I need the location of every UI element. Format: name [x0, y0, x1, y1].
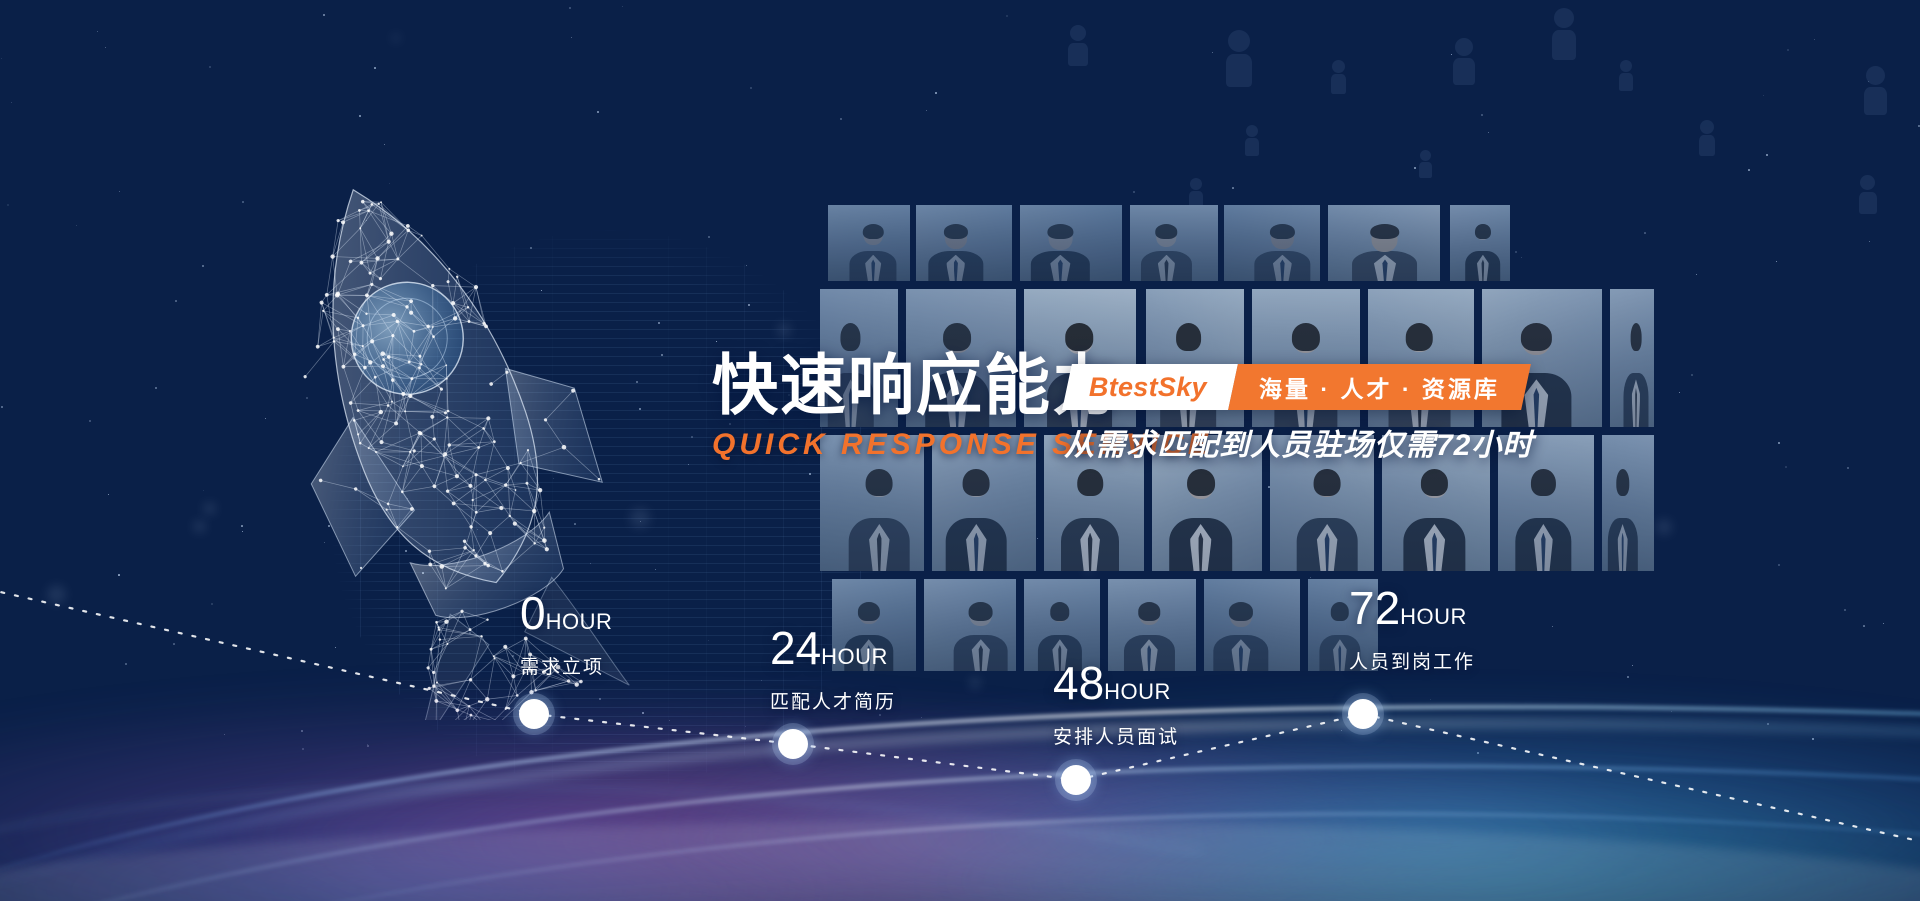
talent-photo-tile — [828, 205, 910, 281]
person-pictogram-icon — [1420, 150, 1431, 176]
person-pictogram-icon — [1866, 66, 1885, 112]
talent-photo-tile — [1130, 205, 1218, 281]
talent-photo-tile — [1610, 289, 1654, 427]
rocket-icon — [150, 140, 710, 720]
brand-slogan-text: 海量 · 人才 · 资源库 — [1259, 370, 1500, 404]
person-pictogram-icon — [1246, 125, 1258, 154]
person-pictogram-icon — [1190, 178, 1202, 207]
aurora-light-waves — [0, 641, 1920, 901]
brand-badge: BtestSky 海量 · 人才 · 资源库 — [1062, 364, 1531, 410]
person-pictogram-icon — [1228, 30, 1250, 83]
person-pictogram-icon — [1070, 25, 1086, 63]
brand-name-text: BtestSky — [1089, 372, 1207, 403]
person-pictogram-icon — [1860, 175, 1875, 211]
person-pictogram-icon — [1620, 60, 1632, 89]
person-pictogram-icon — [1332, 60, 1345, 91]
person-pictogram-icon — [1554, 8, 1574, 56]
talent-photo-tile — [1328, 205, 1440, 281]
brand-badge-name: BtestSky — [1062, 364, 1238, 410]
talent-photo-tile — [1020, 205, 1122, 281]
talent-photo-tile — [1450, 205, 1510, 281]
hero-banner: 快速响应能力 QUICK RESPONSE SERVICE BtestSky 海… — [0, 0, 1920, 901]
person-pictogram-icon — [1700, 120, 1714, 154]
timeline-stage-unit: HOUR — [1400, 604, 1467, 629]
person-pictogram-icon — [1455, 38, 1473, 81]
talent-photo-tile — [916, 205, 1012, 281]
talent-photo-tile — [1224, 205, 1320, 281]
hero-tagline: 从需求匹配到人员驻场仅需72小时 — [1064, 420, 1533, 464]
brand-badge-slogan: 海量 · 人才 · 资源库 — [1228, 364, 1531, 410]
